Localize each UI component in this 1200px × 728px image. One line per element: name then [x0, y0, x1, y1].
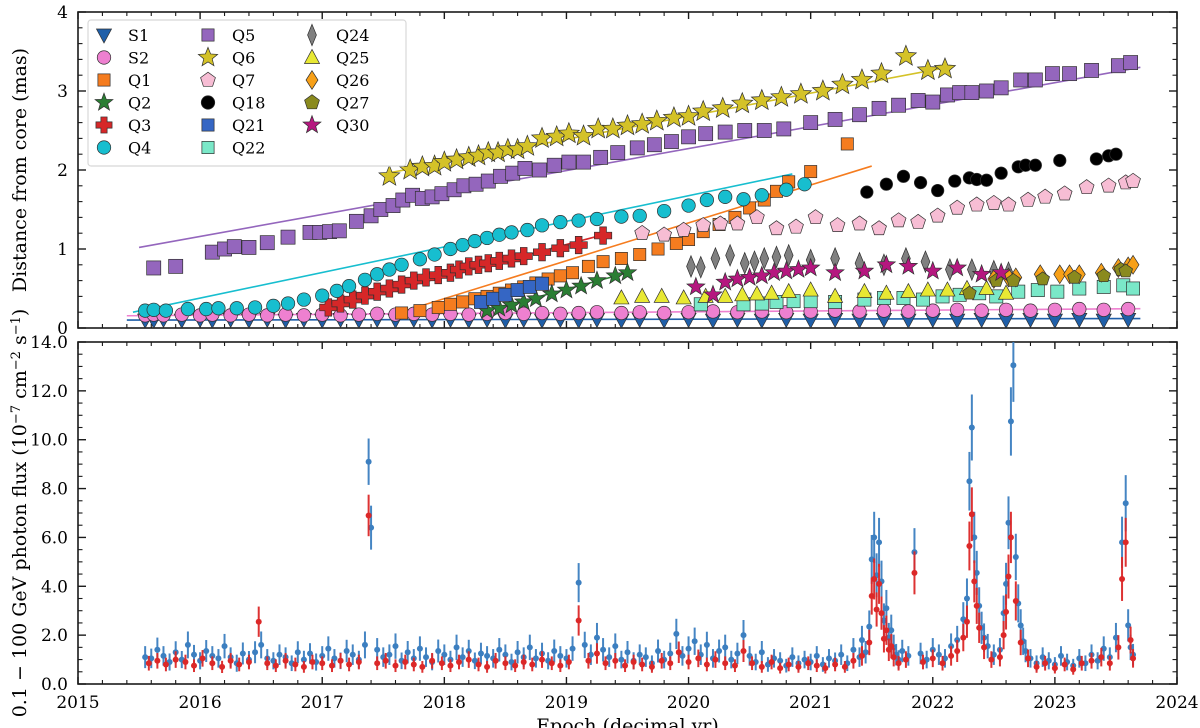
- point-flux-blue: [612, 643, 618, 649]
- point-flux-red: [219, 664, 225, 670]
- point-Q1: [432, 301, 444, 313]
- point-flux-blue: [686, 646, 692, 652]
- point-flux-red: [649, 664, 655, 670]
- x-ticklabel: 2018: [423, 693, 466, 713]
- point-flux-red: [814, 663, 820, 669]
- point-flux-red: [988, 657, 994, 663]
- point-flux-red: [1115, 644, 1121, 650]
- y-axis-title-top: Distance from core (mas): [9, 48, 31, 292]
- point-flux-red: [859, 653, 865, 659]
- point-flux-blue: [871, 534, 877, 540]
- point-flux-blue: [936, 652, 942, 658]
- legend-label-Q22: Q22: [232, 139, 265, 158]
- y-axis-title-bottom: 0.1 − 100 GeV photon flux (10−7 cm−2 s−1…: [9, 309, 31, 718]
- point-Q5: [518, 161, 532, 175]
- point-Q18: [1090, 153, 1102, 165]
- point-flux-blue: [222, 643, 228, 649]
- point-Q4: [199, 302, 213, 316]
- point-flux-blue: [191, 652, 197, 658]
- point-flux-red: [402, 659, 408, 665]
- point-flux-red: [1034, 664, 1040, 670]
- point-S2: [682, 305, 696, 319]
- point-flux-red: [585, 658, 591, 664]
- point-flux-red: [871, 576, 877, 582]
- point-Q4: [572, 214, 586, 228]
- point-Q1: [841, 138, 853, 150]
- point-flux-blue: [1123, 500, 1129, 506]
- point-flux-blue: [789, 654, 795, 660]
- point-Q22: [1051, 285, 1064, 298]
- point-flux-blue: [240, 650, 246, 656]
- point-flux-red: [329, 663, 335, 669]
- x-ticklabel: 2015: [56, 693, 99, 713]
- point-flux-red: [1008, 534, 1014, 540]
- point-Q4: [342, 279, 356, 293]
- point-flux-blue: [417, 646, 423, 652]
- point-Q18: [1029, 159, 1041, 171]
- point-flux-red: [722, 660, 728, 666]
- point-Q1: [615, 252, 627, 264]
- point-flux-blue: [692, 638, 698, 644]
- point-Q1: [582, 260, 594, 272]
- point-flux-red: [960, 635, 966, 641]
- point-flux-red: [1052, 665, 1058, 671]
- point-flux-red: [1001, 632, 1007, 638]
- point-flux-blue: [969, 425, 975, 431]
- x-ticklabel: 2024: [1155, 693, 1198, 713]
- point-flux-red: [667, 660, 673, 666]
- point-flux-red: [1070, 666, 1076, 672]
- x-ticklabel: 2017: [301, 693, 344, 713]
- point-flux-blue: [435, 648, 441, 654]
- point-Q5: [594, 150, 608, 164]
- point-flux-blue: [859, 637, 865, 643]
- point-Q4: [315, 289, 329, 303]
- point-S2: [902, 305, 916, 319]
- point-flux-red: [173, 657, 179, 663]
- point-flux-red: [948, 653, 954, 659]
- point-flux-red: [264, 660, 270, 666]
- point-flux-red: [419, 664, 425, 670]
- point-Q4: [633, 209, 647, 223]
- point-flux-blue: [1010, 362, 1016, 368]
- point-Q18: [880, 178, 892, 190]
- point-flux-red: [759, 664, 765, 670]
- point-flux-red: [883, 627, 889, 633]
- point-Q5: [611, 146, 625, 160]
- point-flux-blue: [185, 642, 191, 648]
- point-Q22: [1012, 285, 1025, 298]
- point-flux-red: [622, 663, 628, 669]
- point-Q5: [227, 240, 241, 254]
- point-flux-blue: [655, 648, 661, 654]
- point-flux-blue: [515, 649, 521, 655]
- point-Q18: [1110, 148, 1122, 160]
- point-Q5: [1045, 67, 1059, 81]
- point-flux-red: [283, 658, 289, 664]
- point-flux-red: [704, 661, 710, 667]
- point-flux-red: [309, 659, 315, 665]
- point-flux-red: [866, 639, 872, 645]
- point-Q21: [487, 292, 500, 305]
- point-flux-red: [676, 649, 682, 655]
- point-flux-blue: [594, 635, 600, 641]
- point-flux-red: [1042, 660, 1048, 666]
- point-flux-red: [940, 660, 946, 666]
- point-flux-blue: [374, 647, 380, 653]
- point-flux-blue: [496, 647, 502, 653]
- point-Q1: [652, 243, 664, 255]
- point-flux-blue: [734, 650, 740, 656]
- point-Q18: [980, 174, 992, 186]
- point-S2: [615, 306, 629, 320]
- point-flux-blue: [625, 649, 631, 655]
- point-Q4: [535, 219, 549, 233]
- legend-label-Q2: Q2: [128, 94, 151, 113]
- point-flux-blue: [643, 654, 649, 660]
- point-flux-red: [612, 658, 618, 664]
- y-ticklabel-bottom: 14.0: [30, 333, 68, 353]
- point-Q5: [994, 81, 1008, 95]
- y-ticklabel-bottom: 2.0: [41, 626, 68, 646]
- point-flux-red: [1013, 598, 1019, 604]
- point-flux-red: [191, 663, 197, 669]
- point-S2: [1048, 303, 1062, 317]
- point-flux-red: [301, 664, 307, 670]
- point-flux-red: [911, 570, 917, 576]
- point-Q5: [547, 158, 561, 172]
- point-S2: [999, 303, 1013, 317]
- point-flux-blue: [741, 632, 747, 638]
- legend-label-Q7: Q7: [232, 71, 255, 90]
- x-ticklabel: 2019: [545, 693, 588, 713]
- point-Q4: [615, 210, 629, 224]
- point-Q22: [1126, 282, 1139, 295]
- point-Q5: [1084, 63, 1098, 77]
- point-Q5: [1028, 73, 1042, 87]
- point-Q4: [297, 293, 311, 307]
- point-flux-red: [1123, 539, 1129, 545]
- point-flux-red: [631, 659, 637, 665]
- point-Q5: [533, 163, 547, 177]
- point-Q5: [630, 141, 644, 155]
- point-flux-red: [686, 659, 692, 665]
- point-S2: [706, 305, 720, 319]
- x-ticklabel: 2016: [178, 693, 221, 713]
- point-flux-blue: [423, 654, 429, 660]
- point-Q5: [872, 101, 886, 115]
- legend-marker-Q21: [202, 119, 214, 131]
- point-Q5: [804, 116, 818, 130]
- y-ticklabel-bottom: 4.0: [41, 577, 68, 597]
- point-Q4: [248, 301, 262, 315]
- x-ticklabel: 2022: [911, 693, 954, 713]
- point-Q1: [414, 305, 426, 317]
- point-flux-red: [256, 619, 262, 625]
- point-flux-blue: [1018, 622, 1024, 628]
- point-Q4: [230, 301, 244, 315]
- point-flux-red: [366, 512, 372, 518]
- point-flux-blue: [883, 605, 889, 611]
- legend-label-Q6: Q6: [232, 49, 255, 68]
- point-Q5: [738, 123, 752, 137]
- point-Q4: [480, 231, 494, 245]
- point-flux-red: [1003, 609, 1009, 615]
- point-flux-blue: [728, 657, 734, 663]
- point-flux-red: [209, 660, 215, 666]
- point-flux-blue: [716, 648, 722, 654]
- figure-root: 012340.02.04.06.08.010.012.014.020152016…: [0, 0, 1200, 728]
- point-Q5: [281, 230, 295, 244]
- point-Q5: [169, 259, 183, 273]
- point-flux-red: [1107, 660, 1113, 666]
- point-Q4: [358, 273, 372, 287]
- point-Q1: [670, 237, 682, 249]
- point-flux-blue: [838, 652, 844, 658]
- point-Q4: [444, 242, 458, 256]
- point-flux-red: [228, 658, 234, 664]
- point-flux-red: [969, 511, 975, 517]
- point-flux-red: [981, 644, 987, 650]
- point-S2: [1121, 302, 1135, 316]
- point-flux-blue: [527, 644, 533, 650]
- point-flux-blue: [386, 652, 392, 658]
- point-Q4: [147, 303, 161, 317]
- legend-label-Q5: Q5: [232, 26, 255, 45]
- point-flux-red: [741, 648, 747, 654]
- point-flux-blue: [826, 655, 832, 661]
- point-flux-blue: [1013, 554, 1019, 560]
- point-flux-red: [246, 659, 252, 665]
- point-flux-red: [903, 657, 909, 663]
- point-flux-red: [163, 661, 169, 667]
- point-S2: [877, 304, 891, 318]
- figure-svg: 012340.02.04.06.08.010.012.014.020152016…: [0, 0, 1200, 728]
- point-Q5: [147, 261, 161, 275]
- y-ticklabel-top: 3: [57, 82, 68, 102]
- point-flux-red: [521, 659, 527, 665]
- point-flux-blue: [478, 650, 484, 656]
- point-flux-blue: [667, 650, 673, 656]
- legend-marker-Q1: [98, 74, 110, 86]
- point-Q5: [349, 214, 363, 228]
- point-flux-blue: [203, 648, 209, 654]
- point-flux-blue: [899, 648, 905, 654]
- point-flux-red: [1130, 655, 1136, 661]
- x-ticklabel: 2023: [1033, 693, 1076, 713]
- y-ticklabel-bottom: 0.0: [41, 675, 68, 695]
- point-Q4: [267, 299, 281, 313]
- point-Q4: [737, 192, 751, 206]
- point-flux-red: [974, 603, 980, 609]
- point-flux-blue: [405, 649, 411, 655]
- point-Q21: [511, 284, 524, 297]
- point-Q4: [181, 302, 195, 316]
- point-flux-red: [832, 661, 838, 667]
- point-Q5: [828, 112, 842, 126]
- y-ticklabel-bottom: 10.0: [30, 431, 68, 451]
- point-flux-red: [346, 661, 352, 667]
- point-S2: [950, 303, 964, 317]
- point-S2: [1073, 302, 1087, 316]
- point-flux-red: [896, 660, 902, 666]
- point-flux-blue: [252, 649, 258, 655]
- point-Q5: [562, 155, 576, 169]
- point-Q22: [1031, 284, 1044, 297]
- legend-label-Q1: Q1: [128, 71, 151, 90]
- point-S2: [633, 305, 647, 319]
- point-flux-red: [1005, 574, 1011, 580]
- point-flux-red: [319, 660, 325, 666]
- point-flux-red: [1089, 658, 1095, 664]
- point-S2: [370, 307, 384, 321]
- point-Q4: [493, 228, 507, 242]
- point-flux-red: [769, 659, 775, 665]
- point-Q1: [554, 270, 566, 282]
- point-flux-blue: [966, 478, 972, 484]
- legend-label-S1: S1: [128, 26, 149, 45]
- point-Q1: [634, 248, 646, 260]
- point-Q5: [892, 98, 906, 112]
- legend-label-Q30: Q30: [336, 116, 369, 135]
- point-Q4: [682, 199, 696, 213]
- point-flux-blue: [344, 648, 350, 654]
- point-flux-red: [695, 655, 701, 661]
- point-flux-blue: [484, 653, 490, 659]
- legend-label-Q27: Q27: [336, 94, 369, 113]
- point-flux-red: [874, 606, 880, 612]
- point-Q5: [757, 123, 771, 137]
- point-Q4: [428, 248, 442, 262]
- point-flux-red: [502, 660, 508, 666]
- point-Q5: [1124, 56, 1138, 70]
- point-flux-blue: [325, 646, 331, 652]
- point-S2: [572, 306, 586, 320]
- point-flux-red: [842, 664, 848, 670]
- point-flux-blue: [362, 642, 368, 648]
- point-Q4: [590, 212, 604, 226]
- point-flux-red: [182, 659, 188, 665]
- point-flux-red: [566, 659, 572, 665]
- point-Q4: [521, 223, 535, 237]
- point-S2: [352, 308, 366, 322]
- point-Q4: [370, 268, 384, 282]
- point-flux-red: [429, 658, 435, 664]
- point-Q5: [699, 127, 713, 141]
- point-flux-red: [1025, 655, 1031, 661]
- point-flux-red: [557, 663, 563, 669]
- point-Q4: [718, 190, 732, 204]
- point-flux-red: [476, 661, 482, 667]
- point-Q4: [159, 304, 173, 318]
- point-Q4: [798, 177, 812, 191]
- point-flux-red: [966, 543, 972, 549]
- point-Q1: [805, 165, 817, 177]
- point-Q5: [1014, 73, 1028, 87]
- point-Q4: [212, 301, 226, 315]
- point-flux-red: [920, 659, 926, 665]
- point-flux-red: [292, 661, 298, 667]
- point-Q18: [995, 167, 1007, 179]
- point-Q1: [566, 267, 578, 279]
- x-ticklabel: 2021: [789, 693, 832, 713]
- point-flux-blue: [576, 580, 582, 586]
- point-S2: [853, 305, 867, 319]
- point-flux-blue: [570, 646, 576, 652]
- point-Q18: [914, 176, 926, 188]
- point-flux-red: [1119, 576, 1125, 582]
- point-flux-red: [466, 657, 472, 663]
- point-Q4: [456, 238, 470, 252]
- point-Q5: [664, 135, 678, 149]
- point-flux-blue: [850, 647, 856, 653]
- point-flux-red: [374, 660, 380, 666]
- point-Q18: [1054, 154, 1066, 166]
- point-flux-red: [576, 617, 582, 623]
- point-flux-blue: [551, 648, 557, 654]
- point-flux-blue: [722, 644, 728, 650]
- point-flux-red: [493, 658, 499, 664]
- point-Q4: [383, 263, 397, 277]
- point-Q5: [979, 84, 993, 98]
- point-flux-red: [1018, 639, 1024, 645]
- point-flux-blue: [1008, 418, 1014, 424]
- point-Q4: [505, 226, 519, 240]
- legend-marker-Q18: [201, 96, 215, 110]
- point-flux-red: [512, 663, 518, 669]
- point-Q5: [647, 138, 661, 152]
- point-S2: [590, 305, 604, 319]
- point-Q4: [755, 189, 769, 203]
- point-flux-blue: [295, 649, 301, 655]
- point-flux-red: [1098, 654, 1104, 660]
- point-flux-red: [200, 655, 206, 661]
- point-S2: [535, 306, 549, 320]
- point-flux-blue: [1058, 653, 1064, 659]
- point-flux-blue: [814, 653, 820, 659]
- point-Q5: [1062, 67, 1076, 81]
- bottom-panel-frame: [78, 342, 1177, 684]
- point-flux-red: [732, 663, 738, 669]
- point-Q5: [965, 86, 979, 100]
- point-flux-red: [1062, 661, 1068, 667]
- point-flux-blue: [618, 657, 624, 663]
- point-flux-blue: [876, 539, 882, 545]
- y-ticklabel-top: 4: [57, 3, 68, 23]
- point-flux-red: [786, 661, 792, 667]
- point-flux-blue: [154, 647, 160, 653]
- x-ticklabel: 2020: [667, 693, 710, 713]
- point-flux-red: [1079, 660, 1085, 666]
- point-Q4: [779, 183, 793, 197]
- legend-label-Q3: Q3: [128, 116, 151, 135]
- point-Q18: [861, 186, 873, 198]
- point-flux-red: [549, 660, 555, 666]
- point-Q5: [926, 95, 940, 109]
- point-Q1: [444, 298, 456, 310]
- point-flux-blue: [964, 596, 970, 602]
- point-flux-red: [795, 664, 801, 670]
- point-flux-blue: [258, 642, 264, 648]
- point-flux-red: [273, 663, 279, 669]
- legend-label-Q25: Q25: [336, 49, 369, 68]
- point-Q22: [804, 295, 817, 308]
- y-ticklabel-bottom: 8.0: [41, 480, 68, 500]
- point-Q18: [931, 184, 943, 196]
- point-flux-red: [930, 655, 936, 661]
- point-flux-red: [777, 665, 783, 671]
- legend-marker-Q5: [202, 29, 214, 41]
